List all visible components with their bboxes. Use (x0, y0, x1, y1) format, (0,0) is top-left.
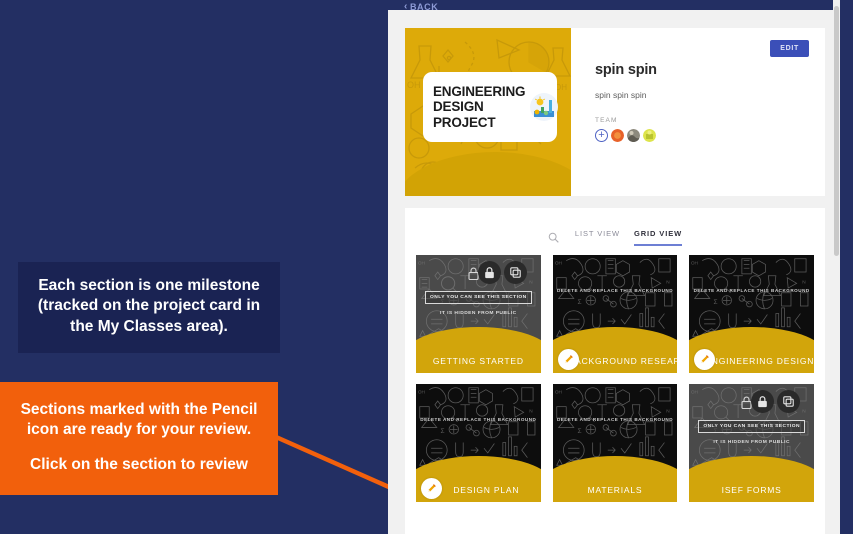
app-topbar (388, 0, 840, 10)
svg-text:Σ: Σ (714, 299, 718, 306)
section-card-isef-forms[interactable]: OH N Σ (689, 384, 814, 502)
annotation-pencil-text-2: Click on the section to review (30, 456, 248, 473)
svg-text:Σ: Σ (577, 428, 581, 435)
pencil-icon (563, 354, 574, 365)
annotation-milestone-text: Each section is one milestone (tracked o… (38, 277, 260, 335)
tab-list-view[interactable]: LIST VIEW (575, 229, 620, 246)
project-title-badge: ENGINEERING DESIGN PROJECT (423, 72, 557, 142)
annotation-spacer (14, 441, 264, 455)
sections-grid: OH (405, 255, 825, 502)
annotation-milestone-note: Each section is one milestone (tracked o… (18, 262, 280, 353)
view-tabs: LIST VIEW GRID VIEW (405, 208, 825, 246)
section-card-engineering-design-statement[interactable]: OH N Σ (689, 255, 814, 373)
app-window: ‹ BACK OH (388, 0, 840, 534)
back-link[interactable]: ‹ BACK (404, 2, 438, 12)
svg-text:N: N (666, 279, 670, 285)
section-card-materials[interactable]: OH N Σ (553, 384, 678, 502)
svg-text:Σ: Σ (577, 299, 581, 306)
card-footer: GETTING STARTED (416, 348, 541, 373)
screenshot-root: Each section is one milestone (tracked o… (0, 0, 853, 534)
add-team-member-button[interactable]: + (595, 129, 608, 142)
annotation-pencil-note: Sections marked with the Pencil icon are… (0, 382, 278, 495)
project-header-card: OH OH (405, 28, 825, 196)
replace-background-hint: DELETE AND REPLACE THIS BACKGROUND (553, 288, 678, 293)
science-illustration-icon (529, 92, 559, 122)
avatar-member-3[interactable] (643, 129, 656, 142)
svg-text:OH: OH (418, 389, 426, 395)
thumbnail-title: ENGINEERING DESIGN PROJECT (433, 84, 525, 129)
project-subtitle: spin spin spin (595, 90, 825, 100)
avatar-member-1[interactable] (611, 129, 624, 142)
svg-text:Σ: Σ (441, 428, 445, 435)
back-label: BACK (410, 2, 438, 12)
section-card-label: GETTING STARTED (433, 356, 524, 366)
copy-icon (783, 396, 794, 407)
svg-text:OH: OH (691, 389, 699, 395)
svg-text:N: N (529, 279, 533, 285)
edit-button[interactable]: EDIT (770, 40, 809, 57)
avatar-member-2[interactable] (627, 129, 640, 142)
replace-background-hint: DELETE AND REPLACE THIS BACKGROUND (416, 417, 541, 422)
section-card-label: DESIGN PLAN (437, 485, 519, 495)
duplicate-button[interactable] (504, 261, 527, 284)
replace-background-hint: DELETE AND REPLACE THIS BACKGROUND (553, 417, 678, 422)
annotation-pencil-text-1: Sections marked with the Pencil icon are… (21, 401, 258, 438)
locked-overlay-subtitle: IT IS HIDDEN FROM PUBLIC (416, 311, 541, 316)
scrollbar-thumb[interactable] (834, 6, 839, 256)
svg-text:OH: OH (555, 260, 563, 266)
team-label: TEAM (595, 117, 825, 124)
card-footer: ISEF FORMS (689, 477, 814, 502)
pencil-icon (699, 354, 710, 365)
section-card-label: ISEF FORMS (722, 485, 782, 495)
svg-text:OH: OH (407, 80, 421, 90)
card-footer: MATERIALS (553, 477, 678, 502)
project-title: spin spin (595, 62, 825, 78)
section-card-design-plan[interactable]: OH N Σ (416, 384, 541, 502)
replace-background-hint: DELETE AND REPLACE THIS BACKGROUND (689, 288, 814, 293)
section-card-label: MATERIALS (588, 485, 643, 495)
right-background-strip (840, 0, 853, 534)
chevron-left-icon: ‹ (404, 2, 408, 12)
locked-overlay-subtitle: IT IS HIDDEN FROM PUBLIC (689, 440, 814, 445)
sections-panel: LIST VIEW GRID VIEW OH (405, 208, 825, 534)
locked-overlay-title: ONLY YOU CAN SEE THIS SECTION (425, 291, 532, 304)
tab-grid-view[interactable]: GRID VIEW (634, 229, 682, 246)
copy-icon (510, 267, 521, 278)
svg-text:OH: OH (555, 389, 563, 395)
search-icon[interactable] (548, 232, 559, 243)
svg-text:N: N (803, 408, 807, 414)
lock-toggle-button[interactable] (478, 261, 501, 284)
svg-text:N: N (803, 279, 807, 285)
section-card-getting-started[interactable]: OH (416, 255, 541, 373)
svg-text:N: N (666, 408, 670, 414)
locked-overlay-title: ONLY YOU CAN SEE THIS SECTION (698, 420, 805, 433)
pencil-icon-badge[interactable] (558, 349, 579, 370)
svg-text:OH: OH (418, 260, 426, 266)
team-avatar-row: + (595, 129, 825, 142)
project-thumbnail: OH OH (405, 28, 571, 196)
pencil-icon (426, 483, 437, 494)
pencil-icon-badge[interactable] (421, 478, 442, 499)
lock-icon (757, 396, 768, 408)
svg-text:N: N (529, 408, 533, 414)
svg-text:OH: OH (691, 260, 699, 266)
project-info: EDIT spin spin spin spin spin TEAM + (571, 28, 825, 196)
lock-icon (484, 267, 495, 279)
section-card-background-research[interactable]: OH N Σ (553, 255, 678, 373)
